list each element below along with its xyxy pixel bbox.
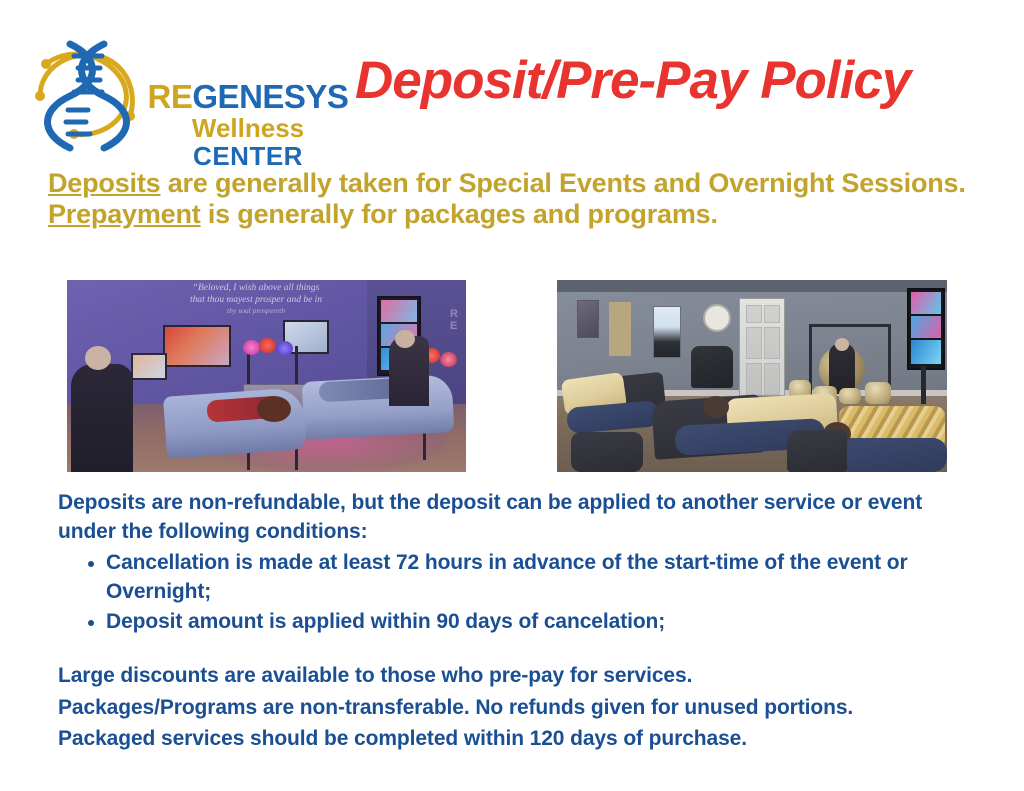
photo-right-monitor-pole <box>921 366 926 404</box>
brand-logo-center: CENTER <box>138 143 358 169</box>
wall-quote-line2: that thou mayest prosper and be in <box>190 295 322 305</box>
list-item: Cancellation is made at least 72 hours i… <box>86 549 968 607</box>
photo-left-client-1-head <box>257 396 291 422</box>
intro-deposits-rest: are generally taken for Special Events a… <box>160 168 965 198</box>
wall-quote-line1: “Beloved, I wish above all things <box>193 283 320 293</box>
intro-line-prepayment: Prepayment is generally for packages and… <box>48 199 993 230</box>
wall-quote-line3: thy soul prospereth <box>227 306 285 315</box>
photo-left-tv-large <box>163 325 231 367</box>
photo-left-wall-quote: “Beloved, I wish above all things that t… <box>141 283 371 318</box>
red-light-therapy-room-photo: “Beloved, I wish above all things that t… <box>67 280 466 472</box>
photo-left-seated-person-head <box>85 346 111 370</box>
brand-logo-re: RE <box>148 78 193 115</box>
policy-body: Deposits are non-refundable, but the dep… <box>58 489 968 638</box>
closing-line-1: Large discounts are available to those w… <box>58 660 988 692</box>
policy-conditions-list: Cancellation is made at least 72 hours i… <box>58 549 968 637</box>
intro-text-block: Deposits are generally taken for Special… <box>48 168 993 230</box>
dna-helix-orbit-icon <box>26 34 148 156</box>
photo-right-client-2-head <box>703 396 729 418</box>
photo-left-red-light-panel-1 <box>243 338 305 364</box>
photo-right-recliner-foot-1 <box>571 432 643 472</box>
photo-right-empty-recliner <box>691 346 733 388</box>
intro-prepayment-underlined: Prepayment <box>48 199 201 229</box>
photo-left-wall-sign: R E <box>450 308 466 332</box>
policy-closing-block: Large discounts are available to those w… <box>58 660 988 755</box>
page-title: Deposit/Pre-Pay Policy <box>355 50 995 111</box>
brand-logo: REGENESYS Wellness CENTER <box>26 34 326 156</box>
photo-right-singing-bowl-3 <box>839 388 861 404</box>
photo-right-wall-panel <box>609 302 631 356</box>
brand-logo-wellness: Wellness <box>138 115 358 141</box>
intro-deposits-underlined: Deposits <box>48 168 160 198</box>
photo-left-seated-person <box>71 364 133 472</box>
closing-line-2: Packages/Programs are non-transferable. … <box>58 692 988 724</box>
closing-line-3: Packaged services should be completed wi… <box>58 723 988 755</box>
sound-bath-overnight-room-photo <box>557 280 947 472</box>
intro-prepayment-rest: is generally for packages and programs. <box>201 199 718 229</box>
photo-right-ceiling <box>557 280 947 292</box>
policy-intro-paragraph: Deposits are non-refundable, but the dep… <box>58 489 968 547</box>
photo-right-window <box>653 306 681 358</box>
photo-right-sound-practitioner-head <box>835 338 849 351</box>
photo-right-monitor-stack <box>907 288 945 370</box>
photo-right-recliner-back-3 <box>787 430 847 472</box>
intro-line-deposits: Deposits are generally taken for Special… <box>48 168 993 199</box>
photo-right-wall-clock <box>703 304 731 332</box>
brand-logo-genesys: GENESYS <box>192 78 348 115</box>
page-header: REGENESYS Wellness CENTER Deposit/Pre-Pa… <box>0 0 1024 160</box>
brand-logo-text: REGENESYS Wellness CENTER <box>138 80 358 169</box>
photo-right-wall-art <box>577 300 599 338</box>
list-item: Deposit amount is applied within 90 days… <box>86 608 968 637</box>
photo-left-attendant-2-head <box>395 330 415 348</box>
photo-left-laptop-screen <box>131 353 167 380</box>
photo-right-door <box>739 298 785 396</box>
photo-right-singing-bowl-4 <box>865 382 891 404</box>
brand-logo-line1: REGENESYS <box>138 80 358 113</box>
